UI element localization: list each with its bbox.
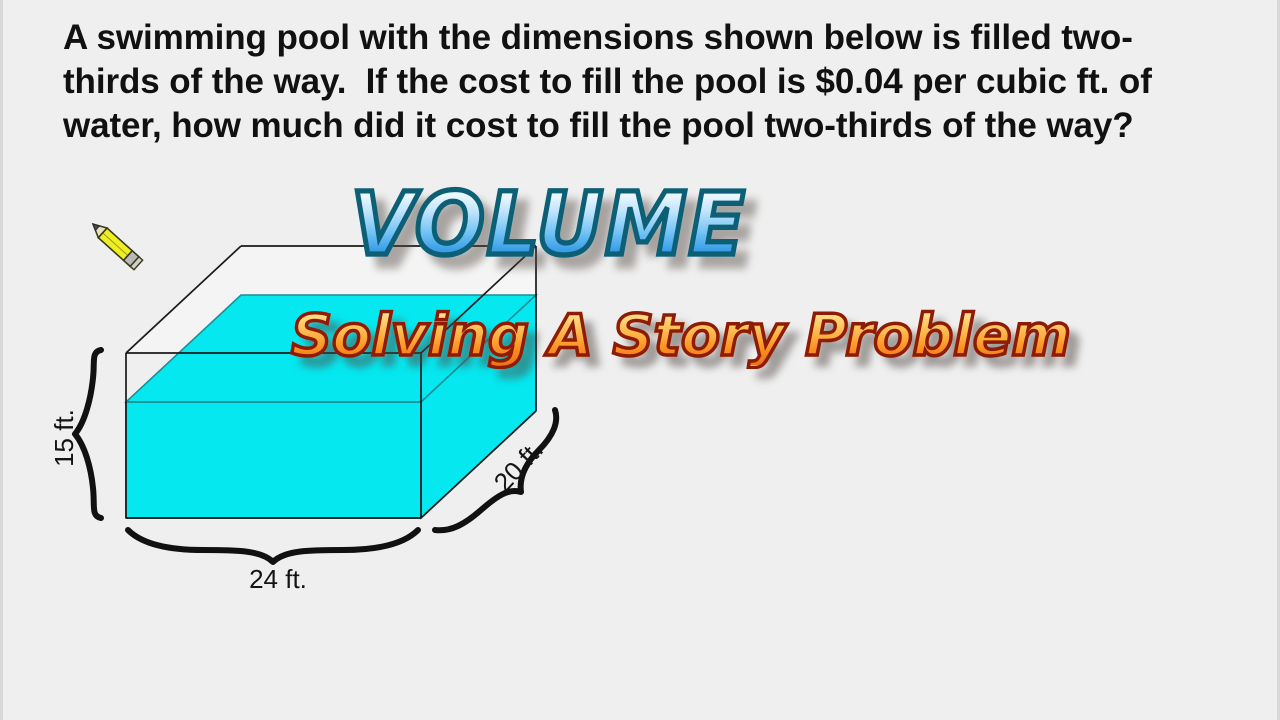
- volume-title: VOLUME: [351, 182, 747, 269]
- pencil-icon: [89, 219, 143, 269]
- label-height: 15 ft.: [49, 409, 79, 467]
- label-width: 24 ft.: [249, 564, 307, 594]
- brace-width: [128, 530, 418, 562]
- problem-statement: A swimming pool with the dimensions show…: [63, 16, 1223, 148]
- water-front-face: [126, 402, 421, 518]
- lesson-subtitle: Solving A Story Problem: [291, 308, 1071, 365]
- video-frame: A swimming pool with the dimensions show…: [0, 0, 1280, 720]
